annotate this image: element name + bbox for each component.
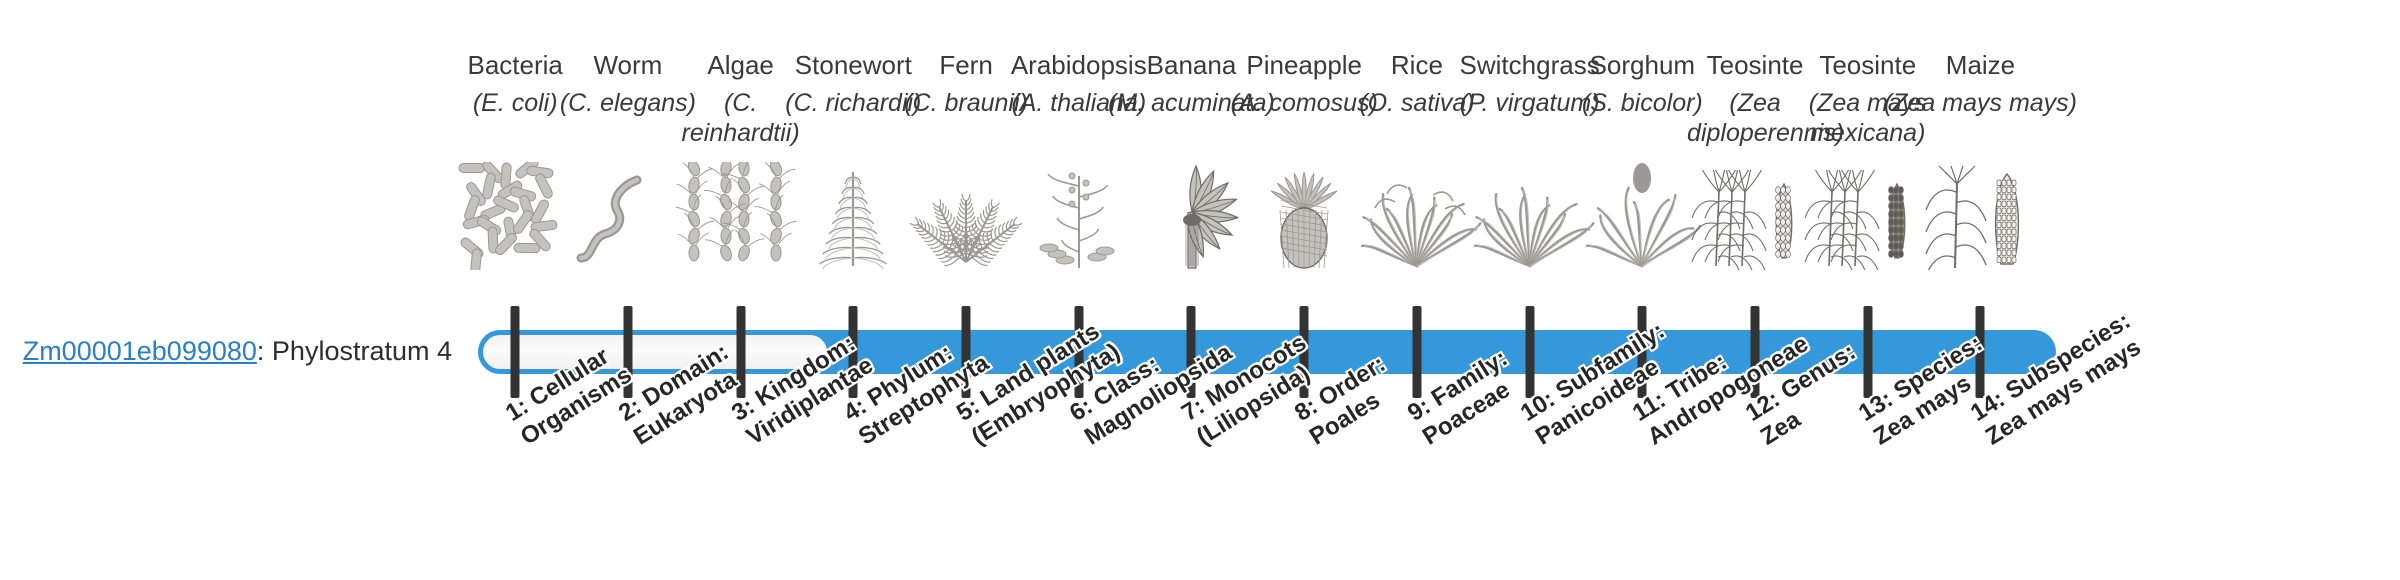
species-common-name: Algae [707,50,774,80]
sorghum-icon [1577,162,1707,270]
species-common-name: Teosinte [1819,50,1916,80]
gene-id-link[interactable]: Zm00001eb099080 [23,336,257,366]
species-common-name: Stonewort [795,50,912,80]
pineapple-icon [1239,162,1369,270]
phylostratum-tick[interactable] [1525,306,1534,398]
phylostratum-value: Phylostratum 4 [272,336,452,366]
species-common-name: Teosinte [1707,50,1804,80]
phylostratum-tick[interactable] [1412,306,1421,398]
rank-name: Subspecies: Zea mays mays [1981,307,2146,450]
species-common-name: Arabidopsis [1011,50,1147,80]
maize-icon [1915,162,2045,270]
rice-icon [1352,162,1482,270]
stonewort-icon [788,162,918,270]
species-common-name: Maize [1946,50,2015,80]
species-scientific-name: (O. sativa) [1359,88,1474,118]
species-common-name: Rice [1391,50,1443,80]
arabidopsis-icon [1014,162,1144,270]
species-scientific-name: (C. richardii) [785,88,921,118]
species-common-name: Bacteria [467,50,562,80]
species-scientific-name: (P. virgatum) [1460,88,1600,118]
gene-separator: : [257,336,272,366]
phylostratum-tick[interactable] [511,306,520,398]
fern-icon [901,162,1031,270]
teosinte-diplo-icon [1690,162,1820,270]
bacteria-icon [450,162,580,270]
switchgrass-icon [1465,162,1595,270]
gene-phylostratum-label: Zm00001eb099080: Phylostratum 4 [0,334,452,368]
species-common-name: Pineapple [1246,50,1362,80]
species-scientific-name: (C. braunii) [904,88,1028,118]
species-scientific-name: (E. coli) [473,88,558,118]
species-scientific-name: (A. comosus) [1231,88,1378,118]
species-common-name: Switchgrass [1460,50,1600,80]
worm-icon [563,162,693,270]
species-common-name: Banana [1147,50,1237,80]
phylostratigraphy-figure: Zm00001eb099080: Phylostratum 4 Bacteria… [0,0,2400,580]
banana-icon [1126,162,1256,270]
species-common-name: Worm [593,50,662,80]
species-scientific-name: (S. bicolor) [1582,88,1703,118]
algae-icon [676,162,806,270]
species-common-name: Fern [939,50,992,80]
species-common-name: Sorghum [1590,50,1696,80]
species-scientific-name: (Zea mays mays) [1884,88,2077,118]
phylostratum-bar-empty [483,335,827,369]
teosinte-mex-icon [1803,162,1933,270]
